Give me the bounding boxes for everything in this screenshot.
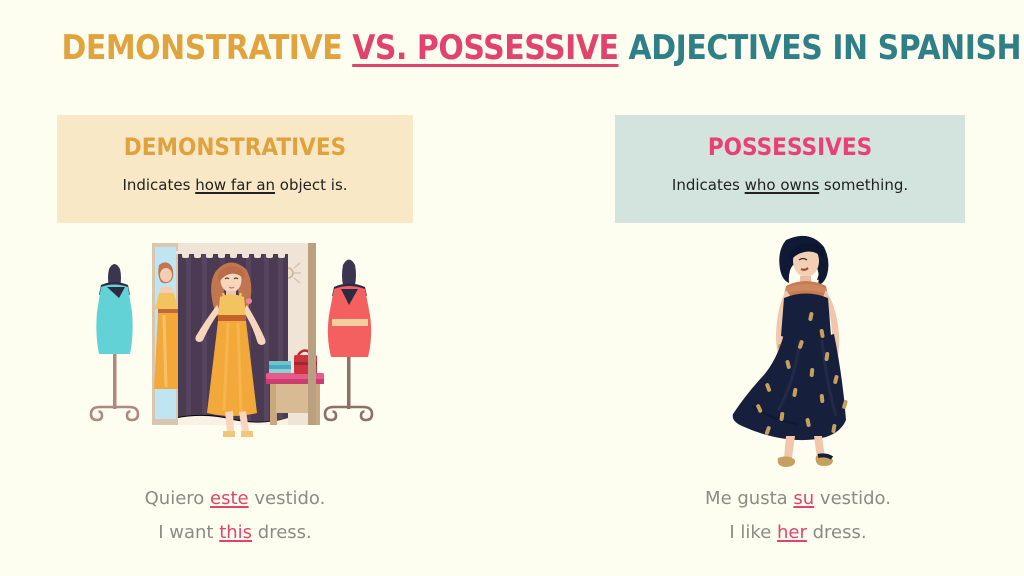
english-pre: I like bbox=[729, 522, 777, 543]
possessives-example-english: I like her dress. bbox=[618, 516, 978, 550]
demonstratives-example-english: I want this dress. bbox=[55, 516, 415, 550]
spanish-keyword-este: este bbox=[210, 488, 249, 509]
title-segment-demonstrative: DEMONSTRATIVE bbox=[61, 28, 352, 68]
english-post: dress. bbox=[807, 522, 867, 543]
english-keyword-her: her bbox=[777, 522, 807, 543]
title-segment-vs-possessive: VS. POSSESSIVE bbox=[352, 28, 618, 68]
english-keyword-this: this bbox=[219, 522, 252, 543]
spanish-post: vestido. bbox=[249, 488, 326, 509]
woman-in-black-gown-illustration bbox=[700, 228, 900, 480]
spanish-pre: Quiero bbox=[145, 488, 210, 509]
infographic-page: DEMONSTRATIVE VS. POSSESSIVE ADJECTIVES … bbox=[0, 0, 1024, 576]
possessives-subtitle-pre: Indicates bbox=[672, 176, 745, 194]
mirror bbox=[152, 243, 182, 425]
english-pre: I want bbox=[158, 522, 219, 543]
spanish-pre: Me gusta bbox=[705, 488, 793, 509]
mannequin-teal-icon bbox=[91, 264, 138, 420]
possessives-example-spanish: Me gusta su vestido. bbox=[618, 482, 978, 516]
demonstratives-subtitle-emphasis: how far an bbox=[195, 176, 275, 194]
demonstratives-subtitle: Indicates how far an object is. bbox=[57, 175, 413, 195]
title-segment-adjectives-in-spanish: ADJECTIVES IN SPANISH bbox=[619, 28, 1022, 68]
possessives-subtitle-post: something. bbox=[819, 176, 908, 194]
english-post: dress. bbox=[252, 522, 312, 543]
elegant-woman-figure bbox=[733, 236, 848, 467]
spanish-post: vestido. bbox=[814, 488, 891, 509]
demonstratives-example-caption: Quiero este vestido. I want this dress. bbox=[55, 482, 415, 550]
mannequin-coral-icon bbox=[325, 260, 372, 421]
demonstratives-heading: DEMONSTRATIVES bbox=[75, 133, 395, 161]
possessives-panel-header: POSSESSIVES Indicates who owns something… bbox=[615, 115, 965, 223]
demonstratives-subtitle-pre: Indicates bbox=[122, 176, 195, 194]
possessives-example-caption: Me gusta su vestido. I like her dress. bbox=[618, 482, 978, 550]
demonstratives-example-spanish: Quiero este vestido. bbox=[55, 482, 415, 516]
possessives-subtitle: Indicates who owns something. bbox=[615, 175, 965, 195]
possessives-subtitle-emphasis: who owns bbox=[745, 176, 820, 194]
dressing-room-illustration bbox=[70, 235, 390, 465]
spanish-keyword-su: su bbox=[793, 488, 814, 509]
demonstratives-panel-header: DEMONSTRATIVES Indicates how far an obje… bbox=[57, 115, 413, 223]
possessives-heading: POSSESSIVES bbox=[633, 133, 948, 161]
demonstratives-subtitle-post: object is. bbox=[275, 176, 348, 194]
page-title: DEMONSTRATIVE VS. POSSESSIVE ADJECTIVES … bbox=[61, 26, 962, 70]
